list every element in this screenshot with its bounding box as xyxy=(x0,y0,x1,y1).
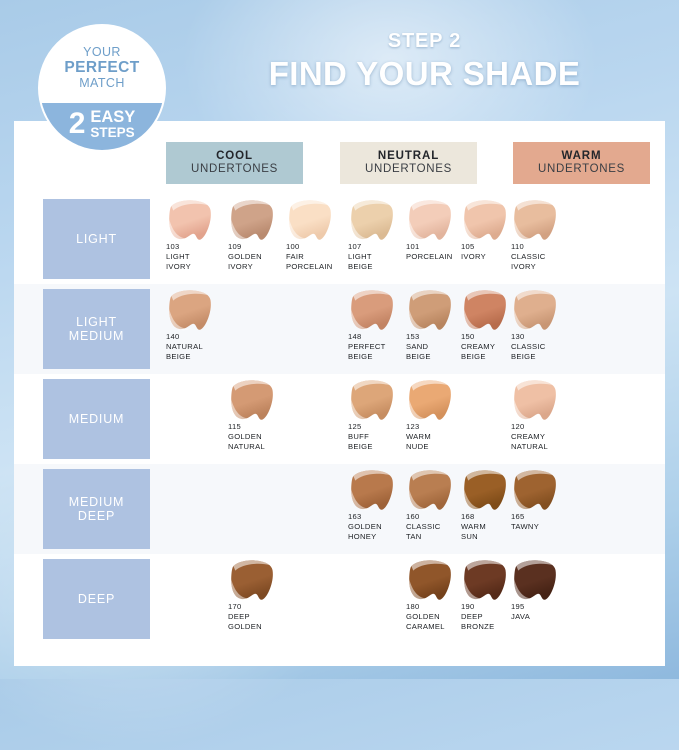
shade-swatch-180[interactable]: 180 GOLDEN CARAMEL xyxy=(404,554,466,644)
perfect-match-badge: YOUR PERFECT MATCH 2 EASY STEPS xyxy=(38,24,166,152)
shade-caption: 100 FAIR PORCELAIN xyxy=(286,242,333,272)
shade-swatch-170[interactable]: 170 DEEP GOLDEN xyxy=(226,554,288,644)
foundation-smear-icon xyxy=(226,198,286,242)
undertone-sublabel: UNDERTONES xyxy=(365,163,452,176)
badge-top-section: YOUR PERFECT MATCH xyxy=(40,26,164,103)
shade-caption: 150 CREAMY BEIGE xyxy=(461,332,495,362)
shade-swatch-165[interactable]: 165 TAWNY xyxy=(509,464,571,554)
undertone-header-neutral: NEUTRALUNDERTONES xyxy=(340,142,477,184)
shade-caption: 190 DEEP BRONZE xyxy=(461,602,494,632)
shade-swatch-160[interactable]: 160 CLASSIC TAN xyxy=(404,464,466,554)
foundation-smear-icon xyxy=(226,558,286,602)
foundation-smear-icon xyxy=(509,468,569,512)
shade-swatch-148[interactable]: 148 PERFECT BEIGE xyxy=(346,284,408,374)
foundation-smear-icon xyxy=(226,378,286,422)
shade-swatch-120[interactable]: 120 CREAMY NATURAL xyxy=(509,374,571,464)
badge-line-your: YOUR xyxy=(83,45,121,59)
foundation-smear-icon xyxy=(509,558,569,602)
shade-caption: 130 CLASSIC BEIGE xyxy=(511,332,546,362)
foundation-smear-icon xyxy=(164,198,224,242)
shade-swatch-123[interactable]: 123 WARM NUDE xyxy=(404,374,466,464)
page-heading: STEP 2 FIND YOUR SHADE xyxy=(190,30,659,93)
foundation-smear-icon xyxy=(284,198,344,242)
badge-easy-steps: EASY STEPS xyxy=(90,109,135,140)
shade-caption: 125 BUFF BEIGE xyxy=(348,422,373,452)
shade-row: DEEP170 DEEP GOLDEN180 GOLDEN CARAMEL190… xyxy=(14,554,665,644)
shade-caption: 105 IVORY xyxy=(461,242,486,262)
shade-caption: 180 GOLDEN CARAMEL xyxy=(406,602,445,632)
shade-chart-panel: COOLUNDERTONESNEUTRALUNDERTONESWARMUNDER… xyxy=(14,121,665,666)
foundation-smear-icon xyxy=(346,198,406,242)
depth-label-line: MEDIUM xyxy=(69,412,125,426)
shade-caption: 170 DEEP GOLDEN xyxy=(228,602,262,632)
shade-rows: LIGHT103 LIGHT IVORY109 GOLDEN IVORY100 … xyxy=(14,194,665,644)
shade-caption: 195 JAVA xyxy=(511,602,530,622)
shade-swatch-130[interactable]: 130 CLASSIC BEIGE xyxy=(509,284,571,374)
foundation-smear-icon xyxy=(404,288,464,332)
shade-caption: 101 PORCELAIN xyxy=(406,242,453,262)
depth-label: DEEP xyxy=(43,559,150,639)
shade-caption: 163 GOLDEN HONEY xyxy=(348,512,382,542)
shade-caption: 165 TAWNY xyxy=(511,512,539,532)
shade-swatch-107[interactable]: 107 LIGHT BEIGE xyxy=(346,194,408,284)
foundation-smear-icon xyxy=(404,378,464,422)
shade-caption: 110 CLASSIC IVORY xyxy=(511,242,546,272)
foundation-smear-icon xyxy=(404,468,464,512)
foundation-smear-icon xyxy=(509,288,569,332)
shade-caption: 160 CLASSIC TAN xyxy=(406,512,441,542)
depth-label-line: MEDIUM xyxy=(69,495,125,509)
shade-caption: 153 SAND BEIGE xyxy=(406,332,431,362)
depth-label-line: LIGHT xyxy=(76,232,117,246)
shade-caption: 109 GOLDEN IVORY xyxy=(228,242,262,272)
depth-label: MEDIUM xyxy=(43,379,150,459)
shade-row: MEDIUM115 GOLDEN NATURAL125 BUFF BEIGE12… xyxy=(14,374,665,464)
shade-caption: 123 WARM NUDE xyxy=(406,422,431,452)
shade-swatch-115[interactable]: 115 GOLDEN NATURAL xyxy=(226,374,288,464)
foundation-smear-icon xyxy=(346,378,406,422)
shade-swatch-100[interactable]: 100 FAIR PORCELAIN xyxy=(284,194,346,284)
depth-label-line: LIGHT xyxy=(76,315,117,329)
depth-label: MEDIUMDEEP xyxy=(43,469,150,549)
shade-swatch-195[interactable]: 195 JAVA xyxy=(509,554,571,644)
depth-label-line: MEDIUM xyxy=(69,329,125,343)
badge-label-steps: STEPS xyxy=(90,126,135,140)
foundation-smear-icon xyxy=(404,198,464,242)
shade-row: MEDIUMDEEP163 GOLDEN HONEY160 CLASSIC TA… xyxy=(14,464,665,554)
shade-caption: 103 LIGHT IVORY xyxy=(166,242,191,272)
undertone-sublabel: UNDERTONES xyxy=(538,163,625,176)
undertone-header-cool: COOLUNDERTONES xyxy=(166,142,303,184)
shade-swatch-153[interactable]: 153 SAND BEIGE xyxy=(404,284,466,374)
shade-caption: 148 PERFECT BEIGE xyxy=(348,332,386,362)
undertone-name: WARM xyxy=(561,150,601,163)
shade-caption: 120 CREAMY NATURAL xyxy=(511,422,548,452)
foundation-smear-icon xyxy=(404,558,464,602)
undertone-header-warm: WARMUNDERTONES xyxy=(513,142,650,184)
shade-swatch-110[interactable]: 110 CLASSIC IVORY xyxy=(509,194,571,284)
foundation-smear-icon xyxy=(164,288,224,332)
shade-caption: 140 NATURAL BEIGE xyxy=(166,332,203,362)
shade-swatch-125[interactable]: 125 BUFF BEIGE xyxy=(346,374,408,464)
shade-swatch-163[interactable]: 163 GOLDEN HONEY xyxy=(346,464,408,554)
depth-label-line: DEEP xyxy=(78,592,115,606)
badge-line-match: MATCH xyxy=(79,76,125,90)
page-title: FIND YOUR SHADE xyxy=(190,55,659,93)
shade-caption: 107 LIGHT BEIGE xyxy=(348,242,373,272)
foundation-smear-icon xyxy=(346,288,406,332)
depth-label-line: DEEP xyxy=(78,509,115,523)
badge-label-easy: EASY xyxy=(90,109,135,126)
foundation-smear-icon xyxy=(509,198,569,242)
shade-row: LIGHT103 LIGHT IVORY109 GOLDEN IVORY100 … xyxy=(14,194,665,284)
shade-swatch-101[interactable]: 101 PORCELAIN xyxy=(404,194,466,284)
badge-line-perfect: PERFECT xyxy=(64,59,139,76)
foundation-smear-icon xyxy=(346,468,406,512)
shade-caption: 115 GOLDEN NATURAL xyxy=(228,422,265,452)
shade-swatch-140[interactable]: 140 NATURAL BEIGE xyxy=(164,284,226,374)
foundation-smear-icon xyxy=(509,378,569,422)
depth-label: LIGHT xyxy=(43,199,150,279)
badge-step-count: 2 xyxy=(69,109,86,139)
step-eyebrow: STEP 2 xyxy=(190,30,659,53)
undertone-name: COOL xyxy=(216,150,253,163)
undertone-sublabel: UNDERTONES xyxy=(191,163,278,176)
undertone-name: NEUTRAL xyxy=(378,150,439,163)
shade-caption: 168 WARM SUN xyxy=(461,512,486,542)
shade-row: LIGHTMEDIUM140 NATURAL BEIGE148 PERFECT … xyxy=(14,284,665,374)
depth-label: LIGHTMEDIUM xyxy=(43,289,150,369)
shade-swatch-109[interactable]: 109 GOLDEN IVORY xyxy=(226,194,288,284)
shade-swatch-103[interactable]: 103 LIGHT IVORY xyxy=(164,194,226,284)
